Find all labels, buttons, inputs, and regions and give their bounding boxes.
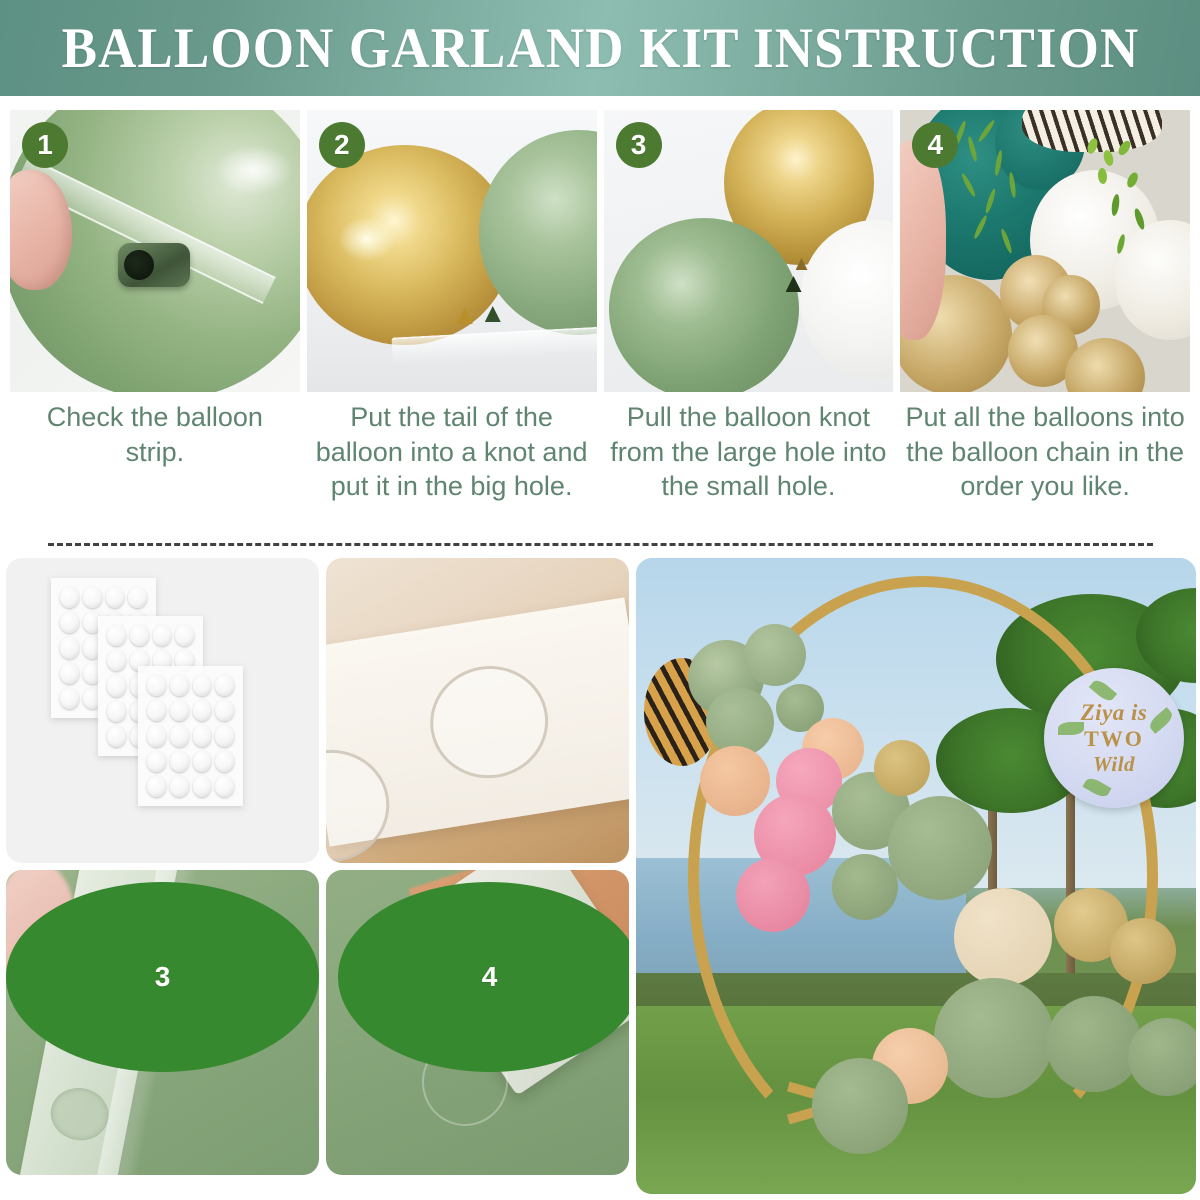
sign-line-3: Wild	[1093, 752, 1135, 777]
step-photo-3: 3	[604, 110, 894, 392]
balloon-sage-6	[888, 796, 992, 900]
step-photo-4: 4	[900, 110, 1190, 392]
glue-dot	[422, 658, 556, 787]
hero-photo: Ziya is TWO Wild	[636, 558, 1196, 1194]
glue-dot-sheet-closeup	[326, 597, 629, 846]
glue-dot-sheet-3	[138, 666, 243, 806]
glue-panel-2: 2	[326, 558, 629, 863]
step-photo-1: 1	[10, 110, 300, 392]
sign-line-1: Ziya is	[1081, 700, 1148, 726]
step-badge-4: 4	[912, 122, 958, 168]
party-sign: Ziya is TWO Wild	[1044, 668, 1184, 808]
step-badge-3: 3	[616, 122, 662, 168]
balloon-sage-7	[832, 854, 898, 920]
step-photo-row: 1 2 3	[10, 110, 1190, 392]
sign-leaf-1	[1058, 722, 1084, 735]
balloon-gold-1	[874, 740, 930, 796]
sage-balloon	[609, 218, 799, 392]
balloon-peach-1	[700, 746, 770, 816]
glue-panel-4: 4	[326, 870, 629, 1175]
balloon-sage-8	[934, 978, 1054, 1098]
balloon-valve	[118, 243, 190, 287]
step-photo-2: 2	[307, 110, 597, 392]
glue-dot-section: 1 2 3 4	[6, 558, 1196, 1194]
page-header: BALLOON GARLAND KIT INSTRUCTION	[0, 0, 1200, 96]
section-divider	[48, 543, 1153, 546]
glue-panel-1: 1	[6, 558, 319, 863]
step-captions-row: Check the balloon strip. Put the tail of…	[10, 400, 1190, 530]
glue-badge-3: 3	[6, 882, 319, 1072]
sign-line-2: TWO	[1084, 726, 1144, 752]
sign-leaf-2	[1147, 707, 1175, 734]
sign-leaf-4	[1082, 775, 1111, 799]
balloon-highlight	[215, 145, 293, 195]
bottom-margin	[0, 1194, 1200, 1200]
glue-panel-3: 3	[6, 870, 319, 1175]
balloon-sage-11	[812, 1058, 908, 1154]
page-title: BALLOON GARLAND KIT INSTRUCTION	[61, 16, 1139, 81]
glue-dot-partial	[326, 741, 397, 863]
glue-badge-4: 4	[338, 882, 629, 1072]
step-badge-1: 1	[22, 122, 68, 168]
sage-balloon	[479, 130, 597, 335]
balloon-sage-10	[1128, 1018, 1196, 1096]
balloon-gold-3	[1110, 918, 1176, 984]
instruction-sheet: BALLOON GARLAND KIT INSTRUCTION 1 2 3	[0, 0, 1200, 1200]
balloon-giraffe-print	[954, 888, 1052, 986]
step-caption-2: Put the tail of the balloon into a knot …	[307, 400, 597, 530]
balloon-sage-2	[744, 624, 806, 686]
step-badge-2: 2	[319, 122, 365, 168]
balloon-sage-9	[1046, 996, 1142, 1092]
step-caption-4: Put all the balloons into the balloon ch…	[900, 400, 1190, 530]
balloon-pink-3	[736, 858, 810, 932]
step-caption-1: Check the balloon strip.	[10, 400, 300, 530]
step-caption-3: Pull the balloon knot from the large hol…	[604, 400, 894, 530]
